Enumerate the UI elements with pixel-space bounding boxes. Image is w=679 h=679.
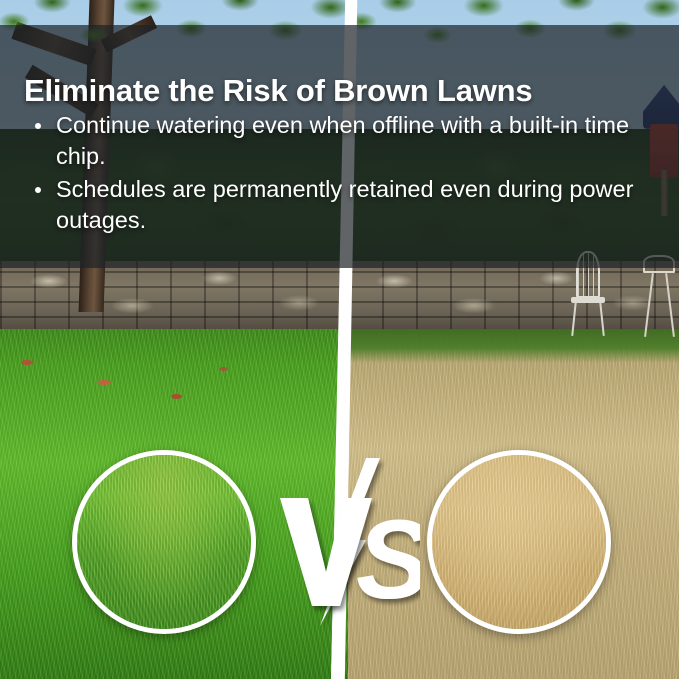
stone-wall — [348, 261, 679, 332]
brown-grass-texture — [432, 455, 606, 629]
green-grass-texture — [77, 455, 251, 629]
versus-badge: S — [270, 440, 420, 640]
leaf-litter — [21, 360, 33, 365]
leaf-litter — [219, 367, 228, 371]
list-item: Schedules are permanently retained even … — [28, 174, 658, 236]
leaf-litter — [171, 394, 182, 399]
table-leg — [665, 273, 675, 336]
feature-bullet-list: Continue watering even when offline with… — [28, 110, 658, 238]
brown-lawn-closeup-circle — [427, 450, 611, 634]
grass-strip — [348, 329, 679, 363]
page-title: Eliminate the Risk of Brown Lawns — [24, 73, 659, 109]
chair-leg — [572, 302, 578, 336]
chair-leg — [599, 302, 605, 336]
green-lawn-closeup-circle — [72, 450, 256, 634]
lawn-comparison-infographic: Eliminate the Risk of Brown Lawns Contin… — [0, 0, 679, 679]
stone-wall — [0, 261, 348, 332]
vs-letter-s: S — [356, 497, 420, 622]
table-leg — [644, 273, 654, 336]
list-item: Continue watering even when offline with… — [28, 110, 658, 172]
versus-graphic: S — [270, 440, 420, 640]
